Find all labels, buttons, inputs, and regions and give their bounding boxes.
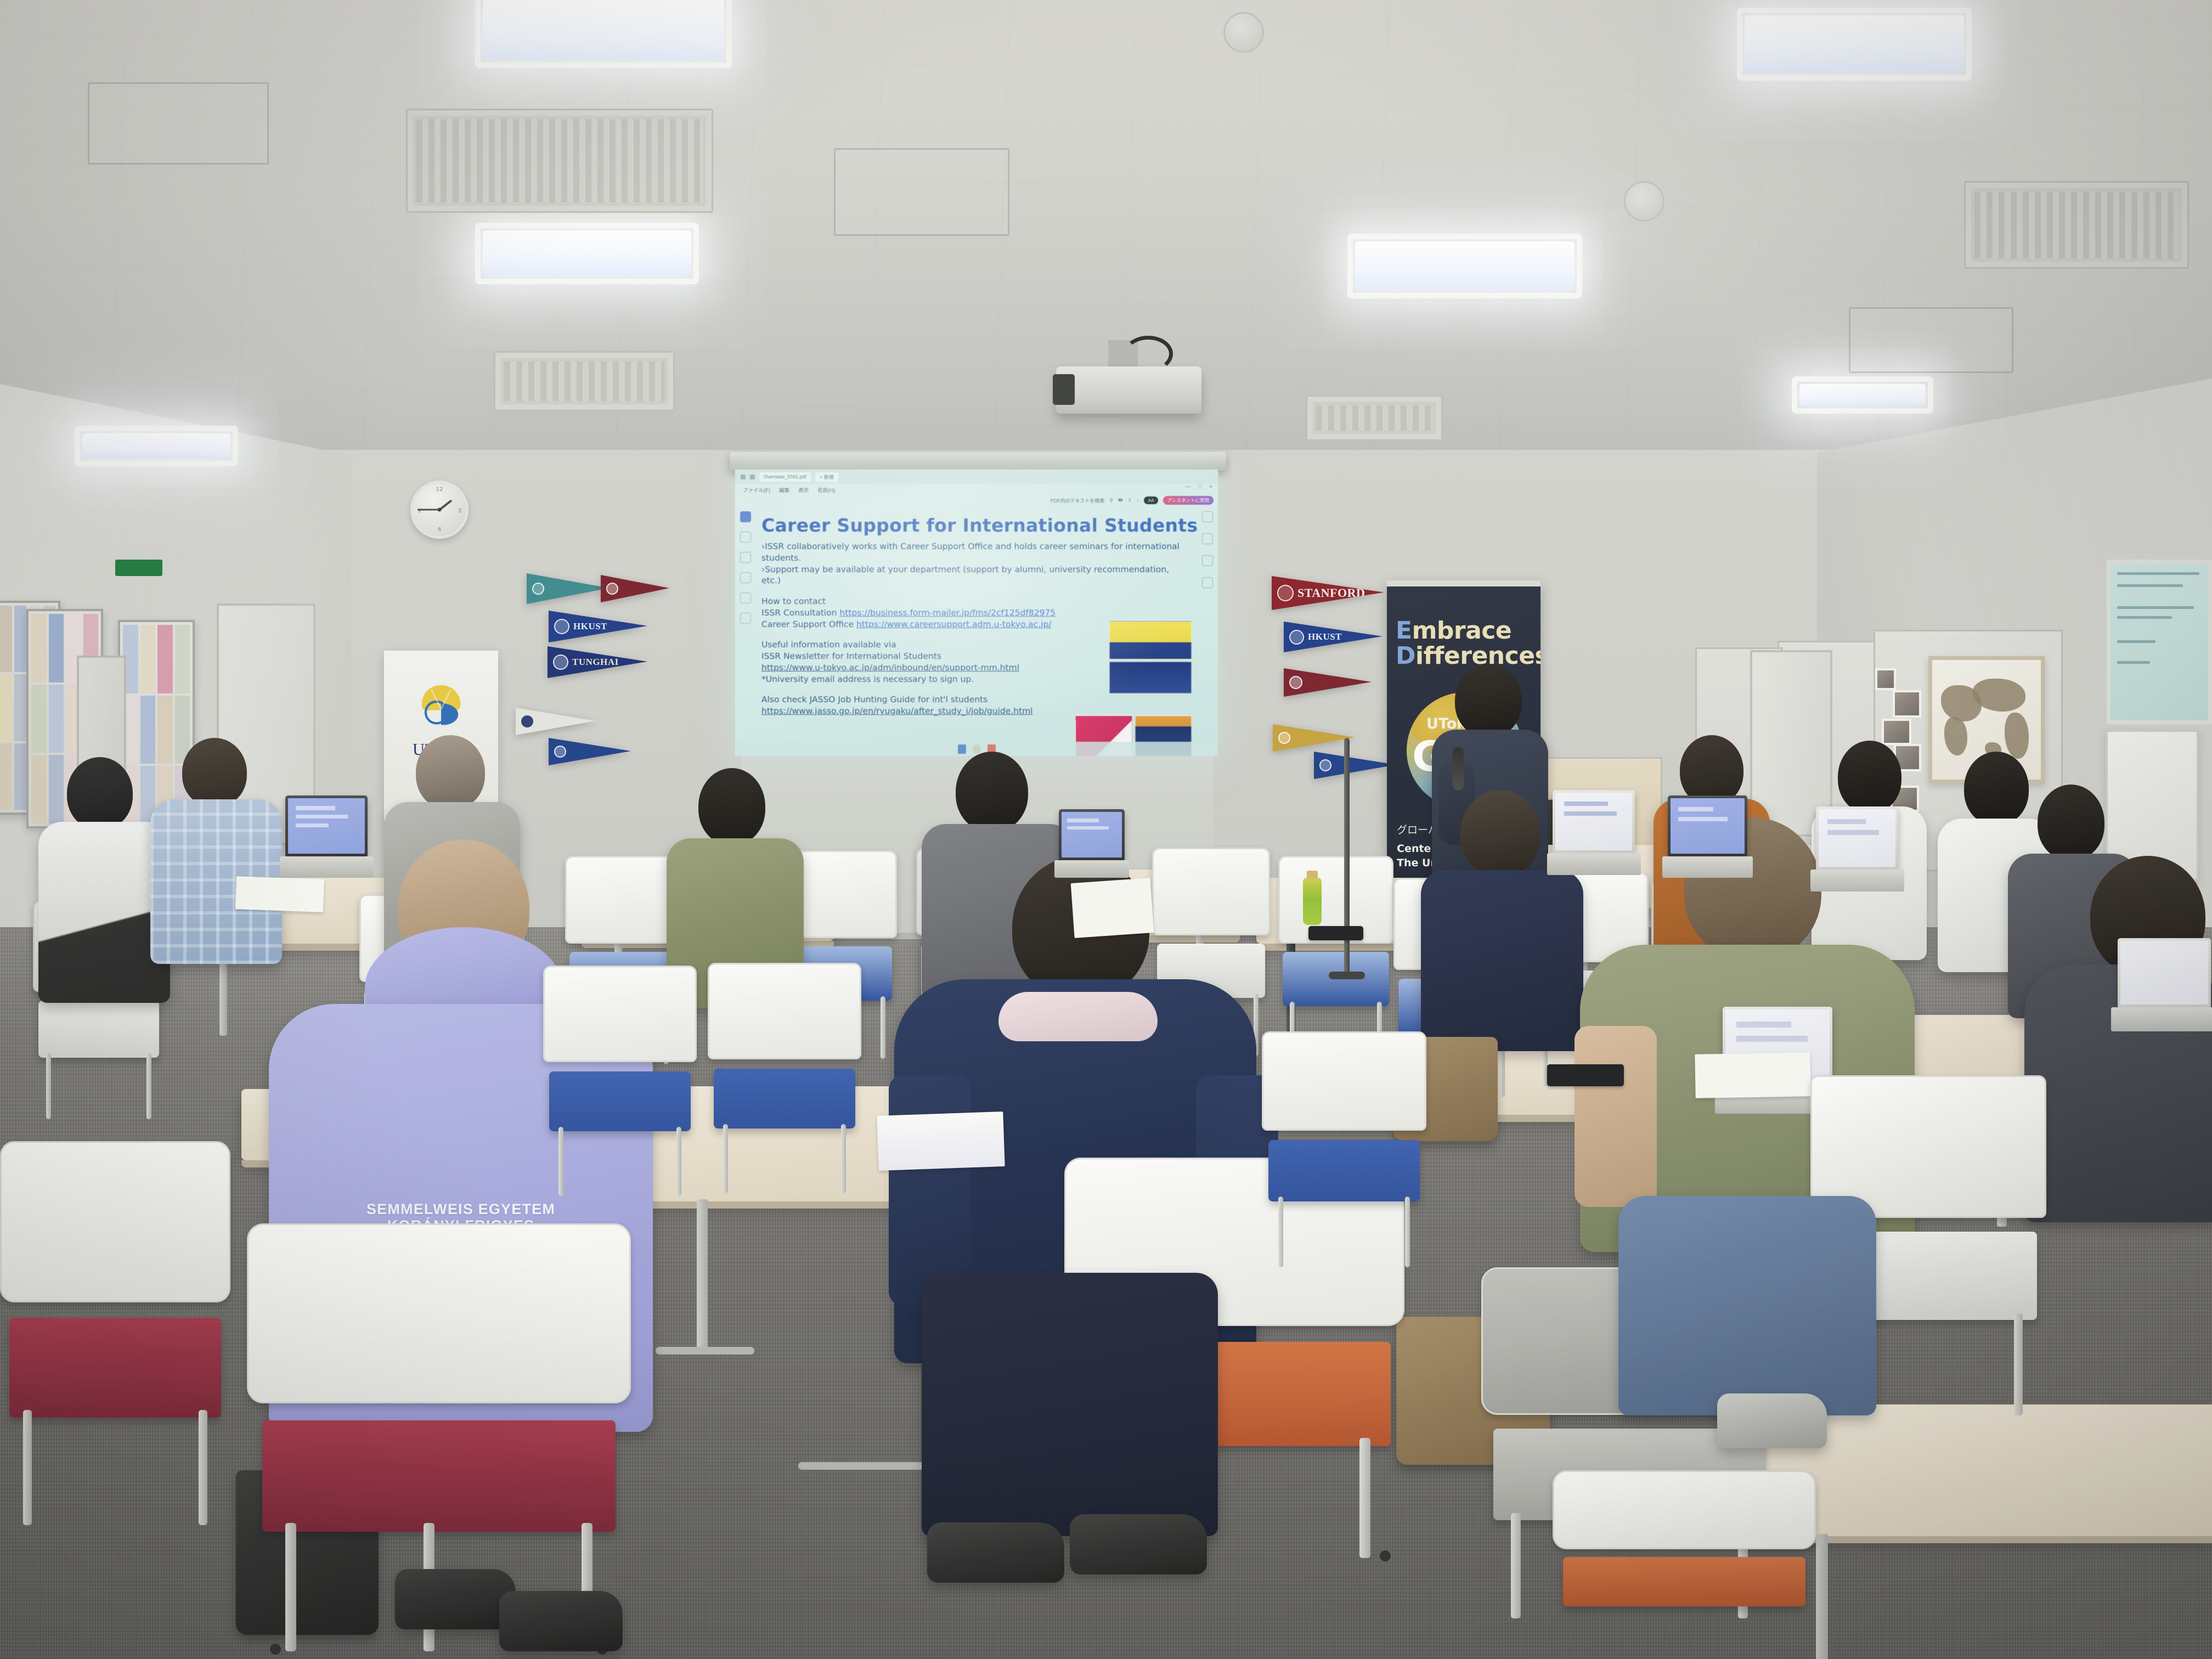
ceiling-hatch	[88, 82, 269, 165]
laptop[interactable]	[1553, 790, 1635, 875]
classroom-photo-scene: 12 3 6 9	[0, 0, 2212, 1659]
head	[698, 768, 765, 845]
read-aloud-chip[interactable]: AA	[1144, 496, 1158, 504]
poster-thumbnail	[1109, 621, 1192, 659]
smoke-detector-icon	[1223, 12, 1264, 53]
pdf-toolbar[interactable]: PDF内のテキストを検索 ⚲ 🖶 ⇧ ↓ AA アシスタントに質問	[1051, 496, 1214, 505]
classroom-chair[interactable]	[1553, 1470, 1816, 1659]
menu-file[interactable]: ファイル(F)	[743, 486, 770, 494]
browser-tab-bar[interactable]: Overseas_ENG.pdf + 新規	[735, 470, 1218, 484]
search-hint-label: PDF内のテキストを検索	[1051, 497, 1105, 504]
app-icon	[741, 475, 746, 479]
head	[1838, 741, 1901, 813]
slide-bullet: ›Support may be available at your depart…	[761, 564, 1189, 587]
air-vent	[406, 109, 713, 213]
arm	[889, 1075, 971, 1306]
air-vent	[1964, 181, 2189, 269]
ceiling-light	[483, 230, 691, 276]
stamp-tool-icon[interactable]	[740, 592, 751, 603]
shoe	[395, 1569, 516, 1629]
contact-heading: How to contact	[761, 596, 1189, 607]
home-icon[interactable]	[750, 475, 755, 479]
slide-thumbnails	[1109, 621, 1192, 696]
ceiling-light	[1799, 384, 1926, 406]
handout-paper[interactable]	[1695, 1052, 1810, 1098]
comment-tool-icon[interactable]	[740, 613, 751, 624]
drink-bottle[interactable]	[1303, 878, 1322, 925]
head	[1455, 664, 1522, 737]
laptop[interactable]	[1668, 795, 1747, 878]
jasso-heading: Also check JASSO Job Hunting Guide for i…	[761, 694, 1189, 706]
wall-photo	[1893, 690, 1921, 718]
share-icon[interactable]: ⇧	[1127, 498, 1132, 504]
career-support-office-link[interactable]: https://www.careersupport.adm.u-tokyo.ac…	[856, 619, 1051, 629]
menu-help[interactable]: 名前(H)	[817, 486, 835, 494]
shoe	[1717, 1393, 1827, 1448]
secondary-display	[2107, 560, 2212, 724]
ceiling-light	[82, 433, 230, 459]
assistant-promo-pill[interactable]: アシスタントに質問	[1163, 496, 1214, 505]
laptop[interactable]	[2118, 938, 2211, 1031]
smoke-detector-icon	[1624, 181, 1664, 222]
laptop[interactable]	[285, 795, 368, 878]
projection-screen: Overseas_ENG.pdf + 新規 ファイル(F) 編集 表示 名前(H…	[735, 470, 1218, 756]
slide-content: Career Support for International Student…	[756, 512, 1195, 740]
foreground-person-right-edge	[2024, 856, 2212, 1273]
classroom-chair[interactable]	[1262, 1031, 1426, 1267]
clock-numeral: 12	[436, 487, 443, 493]
shoe	[499, 1591, 623, 1651]
ceiling-light	[1355, 241, 1575, 291]
laptop[interactable]	[1816, 806, 1898, 891]
torso	[1421, 870, 1583, 1051]
foreground-legs	[1618, 1196, 1882, 1459]
air-vent	[1306, 395, 1443, 441]
table-leg	[1816, 1534, 1828, 1659]
zoom-tool-icon[interactable]	[740, 532, 751, 543]
shoe	[1070, 1514, 1207, 1575]
handout-paper[interactable]	[877, 1111, 1005, 1171]
ceiling-projector	[1056, 366, 1201, 414]
browser-tab[interactable]: Overseas_ENG.pdf	[759, 472, 811, 482]
new-tab-button[interactable]: + 新規	[815, 472, 838, 482]
menu-view[interactable]: 表示	[798, 486, 809, 494]
bookmark-icon[interactable]	[1202, 577, 1213, 588]
pen-tool-icon[interactable]	[740, 552, 751, 563]
pdf-left-toolbar[interactable]	[737, 511, 754, 624]
foreground-legs	[922, 1273, 1229, 1624]
table-foot	[656, 1347, 754, 1355]
slide-title: Career Support for International Student…	[761, 515, 1189, 536]
table-leg	[697, 1199, 708, 1353]
laptop[interactable]	[1059, 809, 1125, 878]
page-fit-icon[interactable]	[1202, 555, 1213, 566]
pdf-right-toolbar[interactable]	[1200, 511, 1215, 588]
smartphone[interactable]	[1547, 1064, 1624, 1086]
highlight-tool-icon[interactable]	[740, 572, 751, 583]
wall-clock: 12 3 6 9	[410, 481, 469, 539]
collar	[998, 992, 1158, 1041]
window-controls[interactable]: — □ ×	[1185, 484, 1212, 490]
hoodie-line-1: SEMMELWEIS EGYETEM	[269, 1201, 653, 1217]
clock-numeral: 3	[458, 508, 461, 514]
pdf-menu-bar[interactable]: ファイル(F) 編集 表示 名前(H)	[735, 484, 1218, 496]
print-icon[interactable]: 🖶	[1118, 496, 1123, 505]
download-icon[interactable]: ↓	[1137, 498, 1139, 503]
ceiling-light	[483, 0, 724, 60]
projector-lens	[1053, 374, 1075, 405]
head	[1460, 790, 1541, 877]
ceiling-hatch	[1849, 307, 2013, 373]
classroom-chair[interactable]	[543, 966, 697, 1196]
handheld-microphone[interactable]	[1453, 747, 1464, 790]
issr-consultation-link[interactable]: https://business.form-mailer.jp/fms/2cf1…	[840, 608, 1056, 618]
head	[416, 735, 485, 810]
menu-edit[interactable]: 編集	[779, 486, 789, 494]
handout-paper[interactable]	[235, 876, 324, 912]
classroom-chair[interactable]	[708, 963, 861, 1193]
ceiling-hatch	[834, 148, 1009, 236]
air-vent	[494, 351, 675, 411]
head	[2038, 785, 2104, 860]
clock-minute-hand	[417, 509, 439, 511]
arm	[1575, 1026, 1657, 1207]
projected-browser-window: Overseas_ENG.pdf + 新規 ファイル(F) 編集 表示 名前(H…	[735, 470, 1218, 756]
jeans	[1618, 1196, 1876, 1415]
screen-housing	[730, 452, 1226, 471]
head	[182, 738, 247, 807]
microphone-stand	[1344, 738, 1350, 979]
search-icon[interactable]: ⚲	[1109, 498, 1113, 504]
handout-paper[interactable]	[1071, 878, 1154, 938]
smartphone[interactable]	[1308, 926, 1363, 940]
close-icon[interactable]: ×	[1209, 484, 1212, 490]
head	[1680, 735, 1743, 805]
rotate-icon[interactable]	[1202, 533, 1213, 544]
wall-photo	[1875, 668, 1896, 690]
shoe	[927, 1522, 1064, 1583]
banner-line-1: Embrace	[1396, 617, 1511, 645]
exit-sign	[115, 560, 162, 576]
clock-numeral: 6	[438, 527, 441, 533]
head	[956, 752, 1028, 832]
head	[67, 757, 133, 830]
classroom-chair[interactable]	[0, 1141, 230, 1525]
ceiling-light	[1745, 15, 1964, 73]
minimize-icon[interactable]: —	[1185, 484, 1190, 490]
audience-member	[148, 738, 285, 1012]
slide-bullet: ›ISSR collaboratively works with Career …	[761, 541, 1189, 564]
maximize-icon[interactable]: □	[1198, 484, 1201, 490]
trousers	[922, 1273, 1218, 1536]
foreground-legs	[395, 1481, 625, 1659]
select-tool-icon[interactable]	[740, 511, 751, 522]
sidebar-icon[interactable]	[1202, 511, 1213, 522]
poster-thumbnail	[1109, 662, 1192, 693]
ginkgo-leaf-logo	[413, 675, 470, 732]
contact-row: ISSR Consultation https://business.form-…	[761, 607, 1189, 619]
